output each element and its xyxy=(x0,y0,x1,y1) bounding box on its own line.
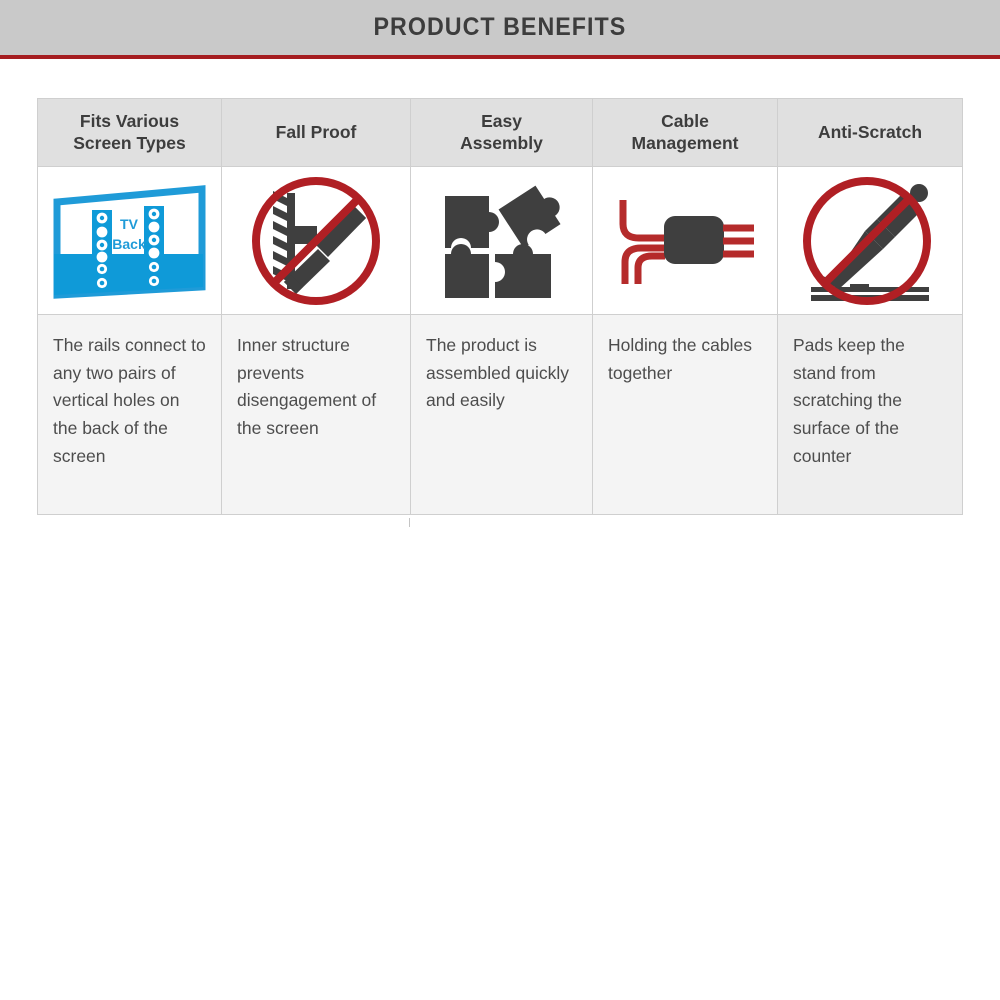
description-cell-cable-management: Holding the cables together xyxy=(593,315,778,515)
header-cell-cable-management: Cable Management xyxy=(593,99,778,167)
header-label: Fall Proof xyxy=(228,122,404,143)
description-cell-fall-proof: Inner structure prevents disengagement o… xyxy=(222,315,411,515)
description-text: Holding the cables together xyxy=(608,332,763,387)
product-benefits-table: Fits Various Screen Types Fall Proof Eas… xyxy=(37,98,963,515)
header-cell-easy-assembly: Easy Assembly xyxy=(411,99,593,167)
no-falling-screen-icon xyxy=(246,171,386,311)
table-icon-row: TV Back xyxy=(38,167,963,315)
table-description-row: The rails connect to any two pairs of ve… xyxy=(38,315,963,515)
icon-cell-fits-various-screen-types: TV Back xyxy=(38,167,222,315)
tv-label-line1: TV xyxy=(120,216,139,232)
header-label: Anti-Scratch xyxy=(784,122,956,143)
icon-cell-anti-scratch xyxy=(778,167,963,315)
icon-cell-easy-assembly xyxy=(411,167,593,315)
description-text: Inner structure prevents disengagement o… xyxy=(237,332,396,443)
description-text: The product is assembled quickly and eas… xyxy=(426,332,578,415)
table-header-row: Fits Various Screen Types Fall Proof Eas… xyxy=(38,99,963,167)
description-cell-anti-scratch: Pads keep the stand from scratching the … xyxy=(778,315,963,515)
page-header-bar: PRODUCT BENEFITS xyxy=(0,0,1000,59)
table-divider-artifact xyxy=(409,518,410,527)
description-cell-easy-assembly: The product is assembled quickly and eas… xyxy=(411,315,593,515)
description-text: Pads keep the stand from scratching the … xyxy=(793,332,948,470)
header-label: Fits Various Screen Types xyxy=(44,111,215,154)
header-cell-anti-scratch: Anti-Scratch xyxy=(778,99,963,167)
description-cell-fits-various-screen-types: The rails connect to any two pairs of ve… xyxy=(38,315,222,515)
cable-clip-icon xyxy=(610,186,760,296)
header-label: Easy Assembly xyxy=(417,111,586,154)
header-label: Cable Management xyxy=(599,111,771,154)
page-title: PRODUCT BENEFITS xyxy=(374,13,627,42)
no-scratch-knife-icon xyxy=(795,171,945,311)
cable-clip-body xyxy=(664,216,724,264)
puzzle-pieces-icon xyxy=(437,178,567,303)
tv-back-icon: TV Back xyxy=(46,177,214,305)
description-text: The rails connect to any two pairs of ve… xyxy=(53,332,207,470)
header-cell-fits-various-screen-types: Fits Various Screen Types xyxy=(38,99,222,167)
icon-cell-cable-management xyxy=(593,167,778,315)
tv-label-line2: Back xyxy=(112,236,146,252)
icon-cell-fall-proof xyxy=(222,167,411,315)
header-cell-fall-proof: Fall Proof xyxy=(222,99,411,167)
